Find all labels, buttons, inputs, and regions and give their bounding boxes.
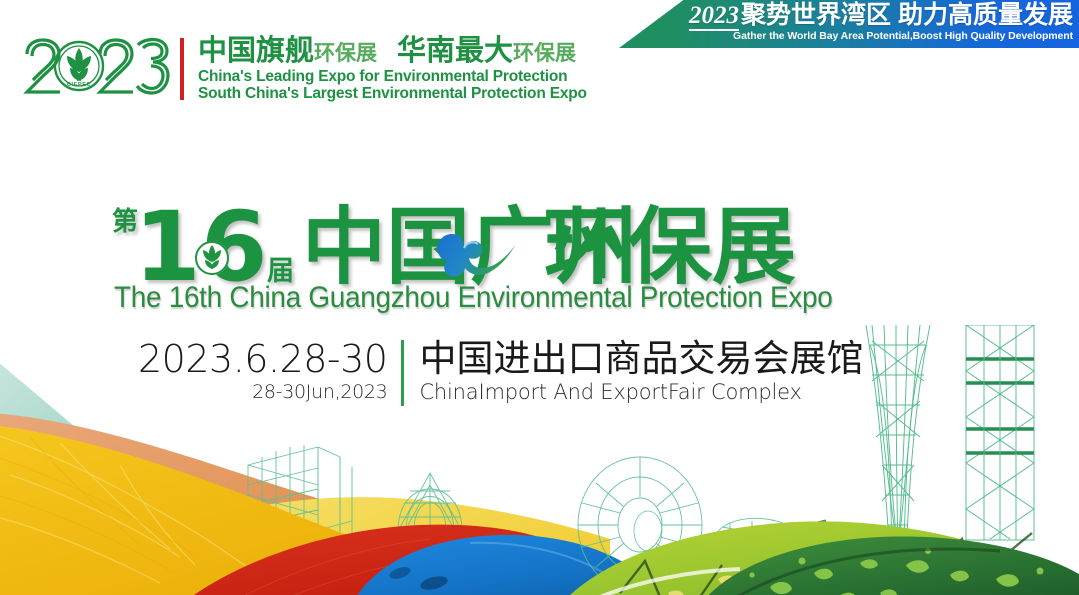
header-tagline-en-2: South China's Largest Environmental Prot… <box>198 85 587 102</box>
top-banner-headline-cn: 聚势世界湾区 助力高质量发展 <box>741 1 1073 29</box>
tagline-cn-2-big: 华南最大 <box>397 33 513 67</box>
top-banner-headline: 2023聚势世界湾区 助力高质量发展 <box>689 1 1073 30</box>
leaf-emblem: CIEPEC <box>55 42 103 90</box>
top-banner-headline-en: Gather the World Bay Area Potential,Boos… <box>689 30 1073 43</box>
header-block: CIEPEC 中国旗舰环保展华南最大环保展 China's Leading Ex… <box>22 36 587 102</box>
tagline-cn-1-big: 中国旗舰 <box>198 33 314 67</box>
main-title-english: The 16th China Guangzhou Environmental P… <box>114 281 833 315</box>
header-tagline-cn: 中国旗舰环保展华南最大环保展 <box>198 36 587 65</box>
skyscraper-wireframe <box>966 325 1034 540</box>
title-name-part3: 环保展 <box>544 198 796 293</box>
header-divider <box>180 38 184 100</box>
svg-text:CIEPEC: CIEPEC <box>67 82 91 88</box>
top-banner-content: 2023聚势世界湾区 助力高质量发展 Gather the World Bay … <box>689 1 1073 43</box>
tagline-cn-2-small: 环保展 <box>513 41 576 65</box>
main-title: 第 16 届 中国 广州 环保展 <box>112 188 812 293</box>
title-edition: 16 <box>134 191 268 293</box>
logo-2023: CIEPEC <box>22 36 172 102</box>
landscape-illustration <box>0 325 1079 595</box>
top-banner-year: 2023 <box>689 2 739 31</box>
title-leaf-emblem <box>195 241 229 275</box>
top-banner: 2023聚势世界湾区 助力高质量发展 Gather the World Bay … <box>619 0 1079 48</box>
tagline-cn-1-small: 环保展 <box>314 41 377 65</box>
header-tagline-en-1: China's Leading Expo for Environmental P… <box>198 68 587 85</box>
expo-poster: 2023聚势世界湾区 助力高质量发展 Gather the World Bay … <box>0 0 1079 595</box>
header-text: 中国旗舰环保展华南最大环保展 China's Leading Expo for … <box>198 36 587 102</box>
